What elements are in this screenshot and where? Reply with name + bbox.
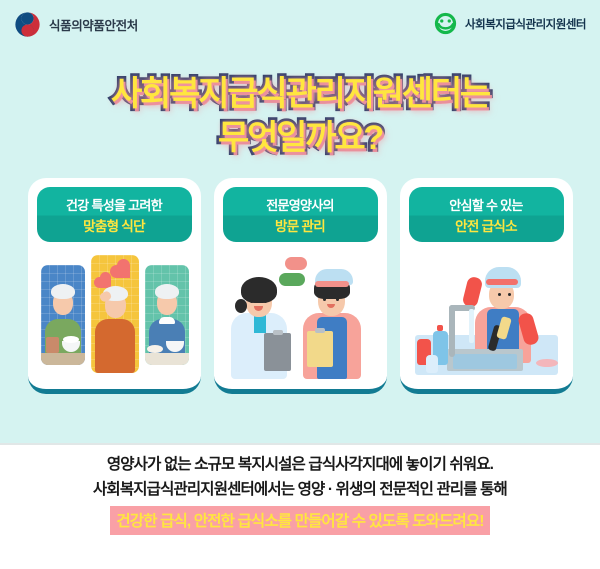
card-2-label-line1: 전문영양사의: [266, 195, 334, 214]
water-stream: [469, 309, 474, 343]
card-1-label-line1: 건강 특성을 고려한: [66, 195, 162, 214]
title-line-2: 무엇일까요?: [0, 116, 600, 160]
gov-logo-group: 식품의약품안전처: [14, 11, 138, 38]
feature-card-row: 건강 특성을 고려한 맞춤형 식단: [0, 178, 600, 394]
card-1-label-line2: 맞춤형 식단: [83, 215, 145, 235]
bottom-line-3-highlight: 건강한 급식, 안전한 급식소를 만들어갈 수 있도록 도와드려요!: [110, 506, 489, 535]
detergent-bottle-white: [426, 355, 438, 373]
speech-bubble-pink: [285, 257, 307, 270]
main-title: 사회복지급식관리지원센터는 무엇일까요?: [0, 72, 600, 160]
card-2-badge: 전문영양사의 방문 관리: [223, 187, 378, 242]
card-3-label-line1: 안심할 수 있는: [449, 195, 522, 214]
sink-washing-illustration: [409, 251, 564, 381]
elderly-panel-yellow: [91, 255, 139, 373]
card-1-badge: 건강 특성을 고려한 맞춤형 식단: [37, 187, 192, 242]
bottom-message: 영양사가 없는 소규모 복지시설은 급식사각지대에 놓이기 쉬워요. 사회복지급…: [0, 452, 600, 535]
speech-bubble-green: [279, 273, 305, 286]
feature-card-3[interactable]: 안심할 수 있는 안전 급식소: [400, 178, 573, 394]
card-3-badge: 안심할 수 있는 안전 급식소: [409, 187, 564, 242]
heart-icon: [117, 265, 130, 278]
yellow-clipboard: [307, 331, 333, 367]
gov-name-label: 식품의약품안전처: [49, 15, 138, 34]
elderly-people-eating-illustration: [37, 251, 192, 381]
faucet-pipe: [449, 305, 455, 357]
bottom-line-2: 사회복지급식관리지원센터에서는 영양 · 위생의 전문적인 관리를 통해: [0, 477, 600, 502]
section-divider: [0, 443, 600, 445]
feature-card-2[interactable]: 전문영양사의 방문 관리: [214, 178, 387, 394]
center-name-label: 사회복지급식관리지원센터: [465, 16, 586, 32]
gray-clipboard: [264, 333, 291, 371]
infographic-page: 식품의약품안전처 사회복지급식관리지원센터 사회복지급식관리지원센터는 무엇일까…: [0, 0, 600, 569]
taeguk-icon: [14, 11, 41, 38]
card-2-label-line2: 방문 관리: [275, 215, 325, 235]
center-logo-group: 사회복지급식관리지원센터: [433, 11, 586, 36]
elderly-panel-green: [145, 265, 189, 365]
bottom-line-1: 영양사가 없는 소규모 복지시설은 급식사각지대에 놓이기 쉬워요.: [0, 452, 600, 477]
red-glove-left: [461, 276, 483, 309]
header-bar: 식품의약품안전처 사회복지급식관리지원센터: [0, 0, 600, 52]
card-3-label-line2: 안전 급식소: [455, 215, 517, 235]
feature-card-1[interactable]: 건강 특성을 고려한 맞춤형 식단: [28, 178, 201, 394]
title-line-1: 사회복지급식관리지원센터는: [0, 72, 600, 116]
soap-dish: [536, 359, 558, 367]
smiley-face-icon: [433, 11, 458, 36]
elderly-panel-blue: [41, 265, 85, 365]
nutritionist-visit-illustration: [223, 251, 378, 381]
